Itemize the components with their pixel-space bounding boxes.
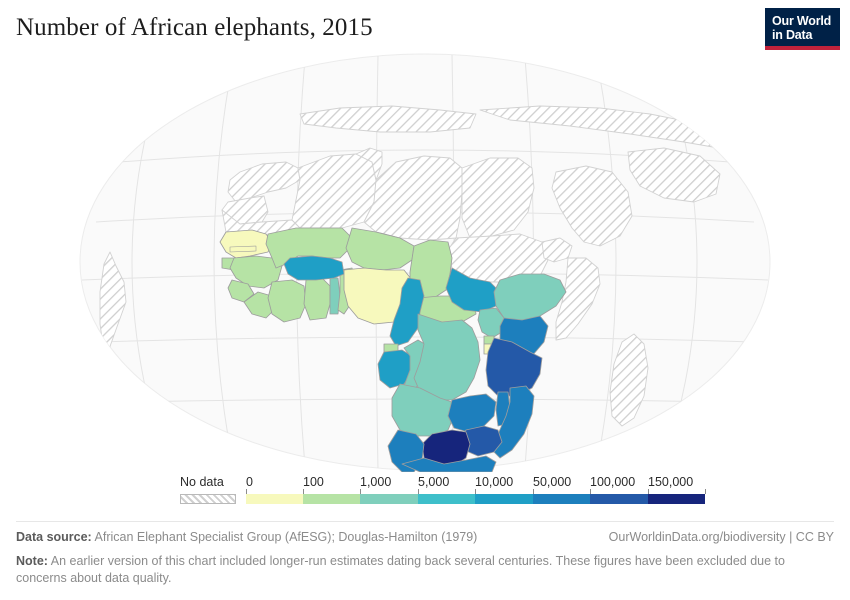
legend-band-7[interactable] xyxy=(648,494,705,504)
legend-no-data-label: No data xyxy=(180,475,224,489)
legend-tick-mark-5 xyxy=(533,489,534,494)
country-ghana xyxy=(304,278,330,320)
choropleth-map[interactable] xyxy=(0,52,850,472)
footer-note: Note: An earlier version of this chart i… xyxy=(16,553,816,587)
country-gambia xyxy=(230,246,256,252)
legend-tick-mark-4 xyxy=(475,489,476,494)
legend-tick-mark-7 xyxy=(648,489,649,494)
legend-band-5[interactable] xyxy=(533,494,590,504)
legend-tick-mark-0 xyxy=(246,489,247,494)
legend-band-2[interactable] xyxy=(360,494,418,504)
legend-tick-label-1000: 1,000 xyxy=(360,475,391,489)
chart-footer: Data source: African Elephant Specialist… xyxy=(0,521,850,600)
legend-band-6[interactable] xyxy=(590,494,648,504)
owid-logo-line2: in Data xyxy=(772,28,833,42)
country-burkina-faso xyxy=(284,256,344,280)
legend-tick-label-0: 0 xyxy=(246,475,253,489)
owid-logo-line1: Our World xyxy=(772,14,833,28)
legend-band-4[interactable] xyxy=(475,494,533,504)
legend-band-3[interactable] xyxy=(418,494,475,504)
data-source-line: Data source: African Elephant Specialist… xyxy=(16,530,477,544)
legend-tick-mark-8 xyxy=(705,489,706,494)
legend-tick-mark-6 xyxy=(590,489,591,494)
footer-note-text: An earlier version of this chart include… xyxy=(16,554,785,585)
owid-logo[interactable]: Our World in Data xyxy=(765,8,840,50)
legend-tick-mark-2 xyxy=(360,489,361,494)
legend-tick-mark-3 xyxy=(418,489,419,494)
map-svg[interactable] xyxy=(0,52,850,472)
data-source-text: African Elephant Specialist Group (AfESG… xyxy=(95,530,478,544)
legend-tick-label-100000: 100,000 xyxy=(590,475,635,489)
legend-tick-label-10000: 10,000 xyxy=(475,475,513,489)
data-source-label: Data source: xyxy=(16,530,92,544)
chart-header: Number of African elephants, 2015 Our Wo… xyxy=(0,0,850,56)
legend-tick-label-5000: 5,000 xyxy=(418,475,449,489)
legend-band-1[interactable] xyxy=(303,494,360,504)
legend-tick-label-50000: 50,000 xyxy=(533,475,571,489)
footer-attribution-link[interactable]: OurWorldinData.org/biodiversity | CC BY xyxy=(609,530,834,544)
map-legend[interactable]: No data 0 100 1,000 5,000 10,000 50,000 … xyxy=(0,472,850,510)
country-algeria xyxy=(292,154,376,228)
legend-tick-label-100: 100 xyxy=(303,475,324,489)
legend-no-data-swatch[interactable] xyxy=(180,494,236,504)
page-title: Number of African elephants, 2015 xyxy=(16,14,373,42)
footer-note-label: Note: xyxy=(16,554,48,568)
legend-tick-label-150000: 150,000 xyxy=(648,475,693,489)
legend-tick-mark-1 xyxy=(303,489,304,494)
legend-band-0[interactable] xyxy=(246,494,303,504)
